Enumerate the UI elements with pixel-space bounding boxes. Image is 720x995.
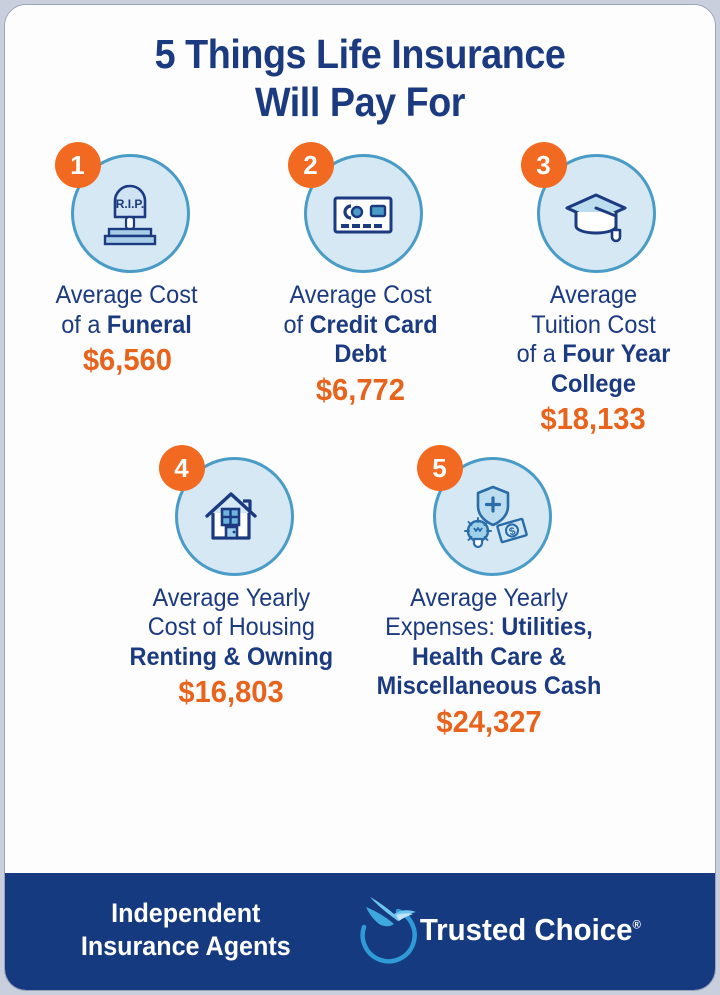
item-3-label-line-1: Average (549, 281, 636, 309)
item-5-label: Average Yearly Expenses: Utilities, Heal… (373, 584, 604, 702)
item-3-amount: $18,133 (540, 401, 645, 437)
page-title: 5 Things Life Insurance Will Pay For (33, 5, 686, 126)
item-2-number-badge: 2 (288, 142, 334, 188)
item-3-label-bold: Four Year College (551, 340, 670, 398)
trusted-choice-wordmark: Trusted Choice® (420, 912, 641, 948)
svg-text:R.I.P.: R.I.P. (116, 197, 144, 211)
item-credit-card-debt: 2 Av (244, 148, 477, 407)
item-3-label: Average Tuition Cost of a Four Year Coll… (487, 281, 699, 399)
item-1-icon-area: 1 R.I.P. (65, 148, 190, 273)
item-yearly-expenses: 5 (360, 451, 618, 740)
item-4-label-line-1: Average Yearly (152, 584, 310, 612)
registered-trademark-icon: ® (633, 917, 641, 931)
item-4-amount: $16,803 (178, 674, 283, 710)
infographic-body: 5 Things Life Insurance Will Pay For 1 R… (5, 5, 715, 873)
item-3-icon-area: 3 (531, 148, 656, 273)
footer-tagline-line-1: Independent (81, 897, 291, 930)
item-5-icon-area: 5 (427, 451, 552, 576)
page-title-line-2: Will Pay For (70, 79, 650, 127)
item-4-label: Average Yearly Cost of Housing Renting &… (129, 584, 333, 673)
item-2-label-line-1: Average Cost (289, 281, 431, 309)
item-3-label-line-2: Tuition Cost (531, 311, 656, 339)
item-1-label: Average Cost of a Funeral (56, 281, 198, 340)
trusted-choice-logo[interactable]: Trusted Choice® (352, 887, 647, 973)
item-1-number-badge: 1 (55, 142, 101, 188)
item-1-label-line-2: of a (62, 311, 108, 339)
items-row-top: 1 R.I.P. Average Cost of a Funeral (5, 148, 715, 437)
item-5-label-line-1: Average Yearly (410, 584, 568, 612)
item-4-icon-area: 4 (169, 451, 294, 576)
footer-bar: Independent Insurance Agents Trusted Cho… (5, 873, 715, 990)
item-2-label: Average Cost of Credit Card Debt (254, 281, 466, 370)
logo-text-main: Trusted Choice (420, 912, 633, 947)
item-1-amount: $6,560 (82, 342, 171, 378)
item-funeral: 1 R.I.P. Average Cost of a Funeral (11, 148, 244, 378)
item-5-number-badge: 5 (417, 445, 463, 491)
item-college-tuition: 3 Average Tuition Cost of a Four Year Co… (477, 148, 710, 437)
item-4-label-bold: Renting & Owning (129, 643, 333, 671)
item-1-label-bold: Funeral (107, 311, 192, 339)
item-3-number-badge: 3 (521, 142, 567, 188)
item-2-icon-area: 2 (298, 148, 423, 273)
page-title-line-1: 5 Things Life Insurance (70, 31, 650, 79)
item-1-label-line-1: Average Cost (56, 281, 198, 309)
item-5-amount: $24,327 (436, 704, 541, 740)
item-housing: 4 Average Yearly (102, 451, 360, 710)
item-2-label-bold: Credit Card Debt (309, 311, 437, 369)
item-3-label-line-3: of a (516, 340, 562, 368)
item-4-number-badge: 4 (159, 445, 205, 491)
item-5-label-line-2: Expenses: (385, 613, 501, 641)
item-2-label-line-2: of (283, 311, 309, 339)
item-4-label-line-2: Cost of Housing (147, 613, 314, 641)
infographic-card: 5 Things Life Insurance Will Pay For 1 R… (4, 4, 716, 991)
footer-tagline: Independent Insurance Agents (81, 897, 291, 963)
footer-tagline-line-2: Insurance Agents (81, 930, 291, 963)
item-2-amount: $6,772 (315, 372, 404, 408)
items-row-bottom: 4 Average Yearly (5, 451, 715, 740)
